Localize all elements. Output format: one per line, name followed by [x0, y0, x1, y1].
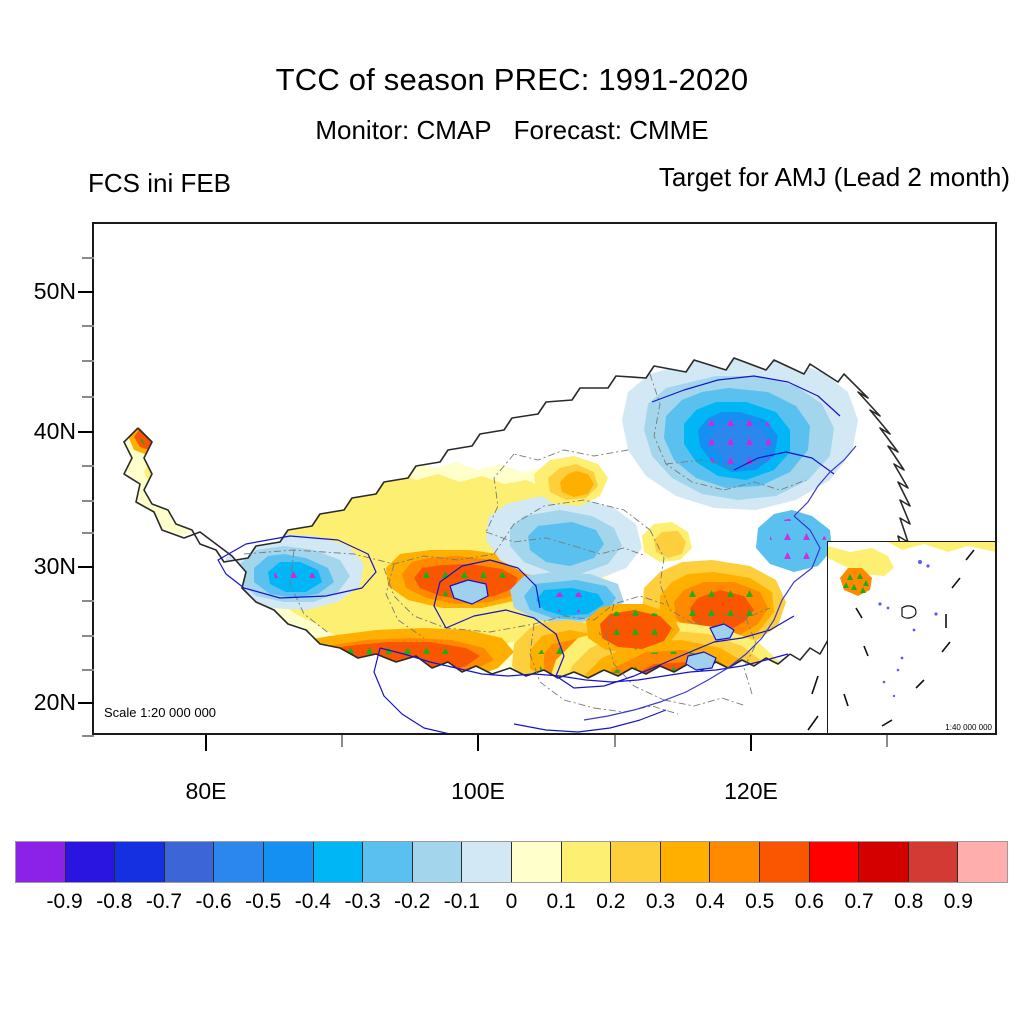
ytick-minor [82, 325, 94, 327]
ytick-minor [82, 257, 94, 259]
colorbar-band-17[interactable] [859, 842, 909, 882]
ytick-50n [78, 291, 94, 293]
south-china-sea-inset[interactable]: 1:40 000 000 [827, 541, 997, 735]
ytick-30n [78, 566, 94, 568]
colorbar-band-11[interactable] [562, 842, 612, 882]
ytick-40n [78, 431, 94, 433]
colorbar[interactable] [15, 841, 1008, 883]
colorbar-band-12[interactable] [611, 842, 661, 882]
inset-scale-label: 1:40 000 000 [945, 723, 992, 732]
ytick-minor [82, 465, 94, 467]
colorbar-band-16[interactable] [810, 842, 860, 882]
colorbar-band-14[interactable] [710, 842, 760, 882]
monitor-label: Monitor: CMAP [315, 115, 491, 145]
subtitle-row: Monitor: CMAPForecast: CMME [0, 115, 1024, 146]
colorbar-band-0[interactable] [16, 842, 66, 882]
colorbar-band-9[interactable] [462, 842, 512, 882]
inset-map [828, 542, 996, 734]
ytick-20n [78, 702, 94, 704]
ytick-minor [82, 360, 94, 362]
forecast-label: Forecast: CMME [514, 115, 709, 145]
colorbar-band-5[interactable] [264, 842, 314, 882]
xtick-minor [341, 735, 343, 747]
ylabel-40n: 40N [0, 418, 76, 445]
target-period-label: Target for AMJ (Lead 2 month) [659, 162, 1010, 193]
colorbar-label-18: 0.9 [928, 890, 988, 914]
ylabel-30n: 30N [0, 553, 76, 580]
colorbar-band-8[interactable] [413, 842, 463, 882]
colorbar-band-15[interactable] [760, 842, 810, 882]
xtick-120e [750, 735, 752, 751]
colorbar-band-1[interactable] [66, 842, 116, 882]
xtick-100e [477, 735, 479, 751]
colorbar-band-4[interactable] [214, 842, 264, 882]
xtick-80e [205, 735, 207, 751]
xlabel-80e: 80E [136, 778, 276, 805]
colorbar-band-19[interactable] [958, 842, 1007, 882]
colorbar-band-13[interactable] [661, 842, 711, 882]
ylabel-20n: 20N [0, 689, 76, 716]
xlabel-120e: 120E [681, 778, 821, 805]
ylabel-50n: 50N [0, 278, 76, 305]
ytick-minor [82, 635, 94, 637]
ytick-minor [82, 500, 94, 502]
colorbar-band-10[interactable] [512, 842, 562, 882]
colorbar-band-2[interactable] [115, 842, 165, 882]
colorbar-band-7[interactable] [363, 842, 413, 882]
map-plot-area[interactable]: Scale 1:20 000 000 [92, 222, 997, 735]
colorbar-band-18[interactable] [909, 842, 959, 882]
ytick-minor [82, 396, 94, 398]
xtick-minor [886, 735, 888, 747]
ytick-minor [82, 735, 94, 737]
xlabel-100e: 100E [408, 778, 548, 805]
map-scale-label: Scale 1:20 000 000 [104, 705, 216, 720]
ytick-minor [82, 532, 94, 534]
colorbar-band-6[interactable] [314, 842, 364, 882]
xtick-minor [614, 735, 616, 747]
ytick-minor [82, 600, 94, 602]
colorbar-band-3[interactable] [165, 842, 215, 882]
colorbar-tick-labels: -0.9-0.8-0.7-0.6-0.5-0.4-0.3-0.2-0.100.1… [15, 890, 1008, 920]
forecast-init-label: FCS ini FEB [88, 168, 231, 199]
page-title: TCC of season PREC: 1991-2020 [0, 62, 1024, 98]
ytick-minor [82, 669, 94, 671]
